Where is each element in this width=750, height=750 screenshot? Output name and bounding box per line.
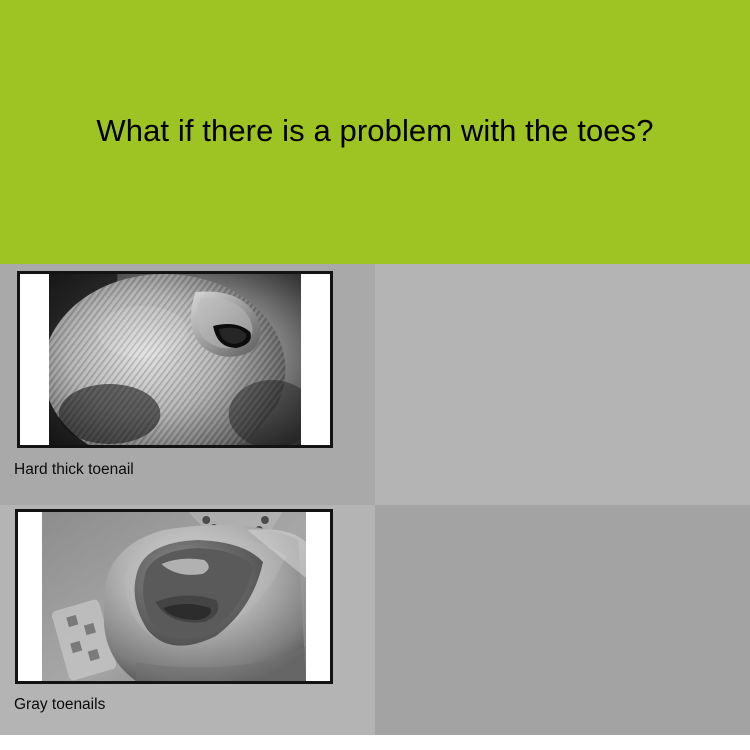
- toenail-photo-hard-thick: [49, 274, 301, 445]
- bottom-margin: [0, 735, 750, 750]
- gallery-item-frequently-occurring-disease-toenail[interactable]: Frequently-occurring disease toenail: [375, 505, 750, 735]
- panel-caption: Hard thick toenail: [14, 460, 134, 480]
- toenail-photo-gray: [42, 512, 306, 681]
- slide-root: What if there is a problem with the toes…: [0, 0, 750, 750]
- header-banner: What if there is a problem with the toes…: [0, 0, 750, 264]
- gallery-item-hard-thick-toenail[interactable]: Hard thick toenail: [0, 264, 375, 505]
- photo-frame: [15, 509, 333, 684]
- page-title: What if there is a problem with the toes…: [0, 110, 750, 152]
- panel-caption: Gray toenails: [14, 695, 105, 715]
- gallery-item-unbearable-pain[interactable]: Unbearable pain: [375, 264, 750, 505]
- photo-frame: [17, 271, 333, 448]
- gallery-item-gray-toenails[interactable]: Gray toenails: [0, 505, 375, 735]
